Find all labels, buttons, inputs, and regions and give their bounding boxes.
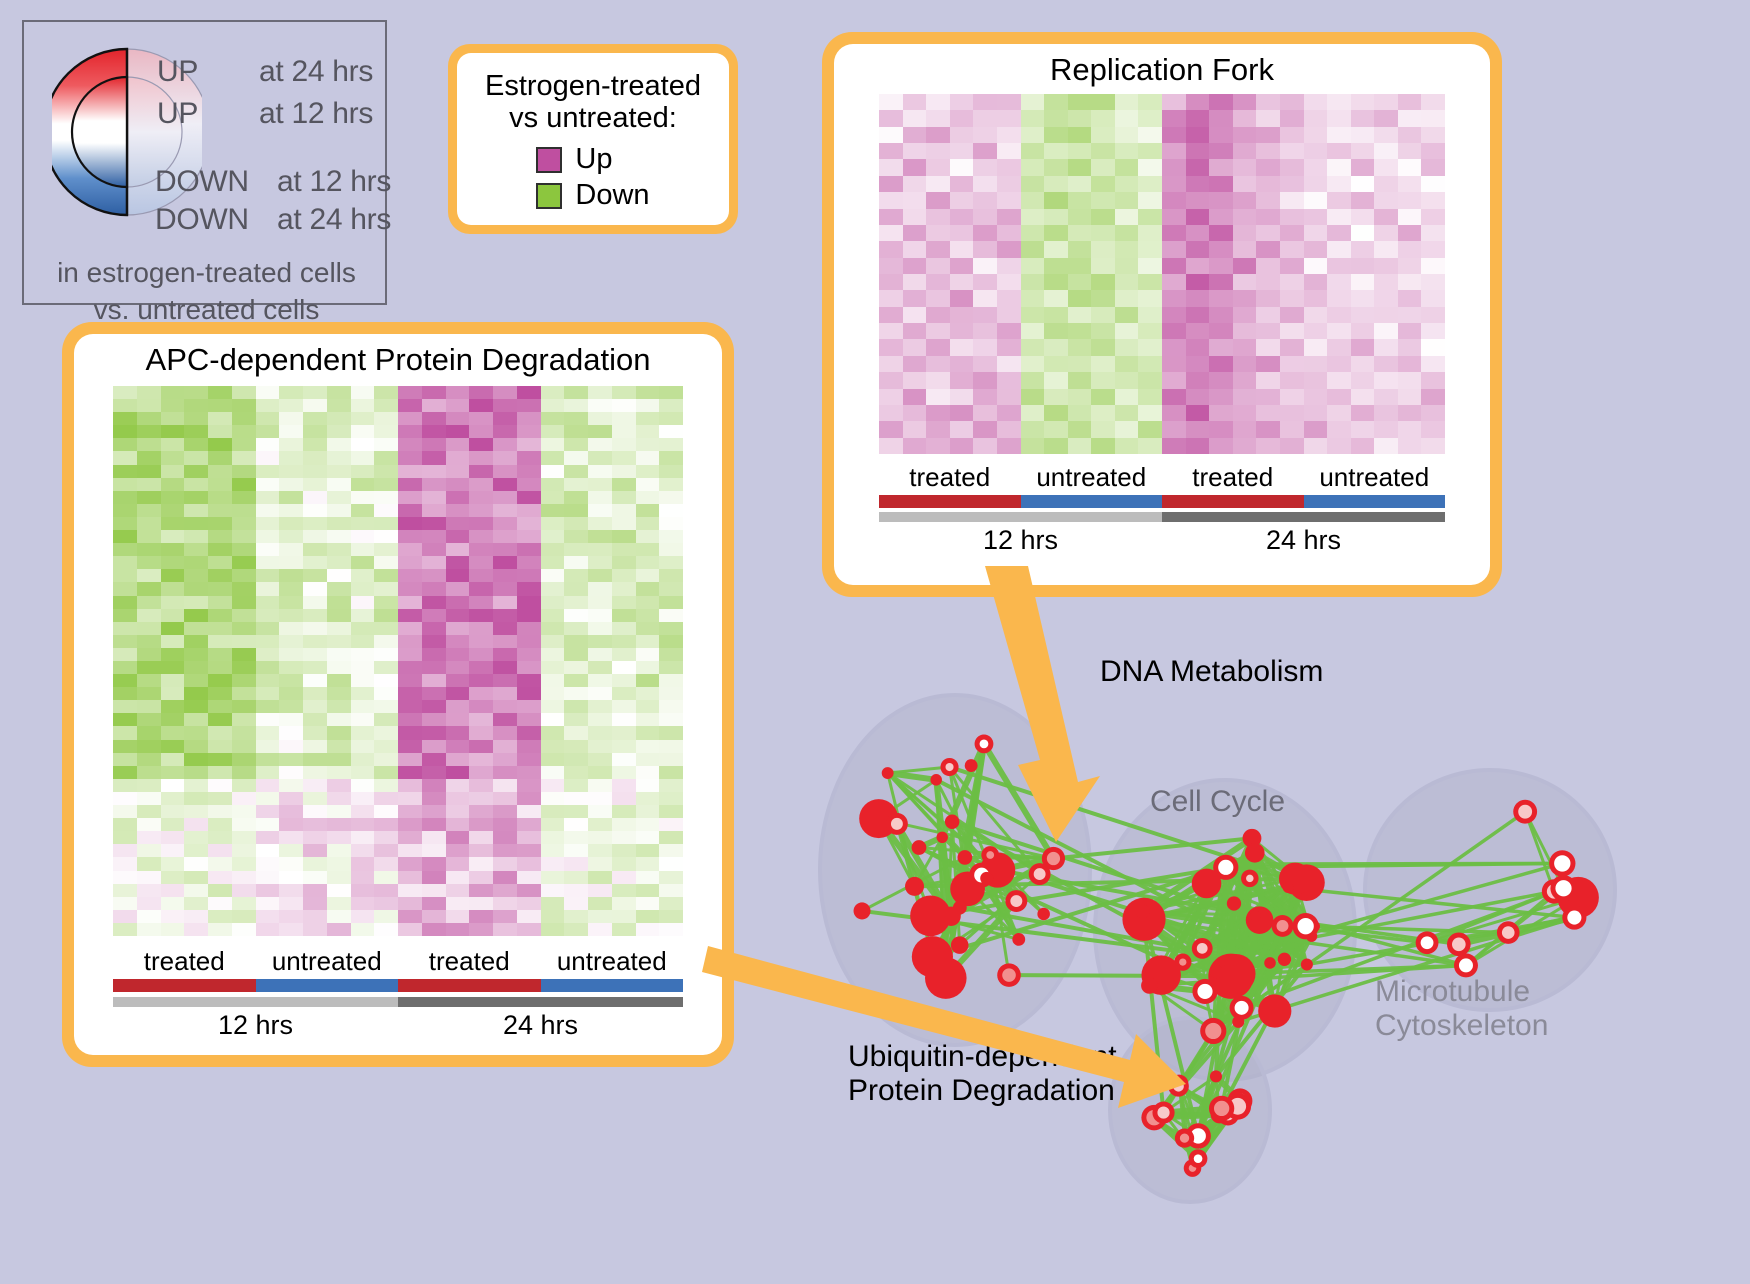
sample-label: untreated — [1021, 462, 1163, 493]
apc-time-labels: 12 hrs 24 hrs — [113, 1010, 683, 1041]
sample-label: untreated — [1304, 462, 1446, 493]
sample-label: untreated — [541, 946, 684, 977]
network-svg — [770, 600, 1750, 1279]
time-label: 12 hrs — [113, 1010, 398, 1041]
apc-panel-title: APC-dependent Protein Degradation — [74, 342, 722, 378]
apc-heatmap — [113, 386, 683, 936]
key-label-down-12: DOWN — [155, 165, 249, 199]
replication-fork-heatmap — [879, 94, 1445, 454]
down-color-swatch — [536, 183, 562, 209]
legend-label-down: Down — [575, 179, 649, 212]
key-time-up-12: at 12 hrs — [259, 97, 373, 131]
sample-label: treated — [113, 946, 256, 977]
key-caption-line1: in estrogen-treated cells — [24, 257, 389, 289]
key-label-up-24: UP — [157, 55, 198, 89]
legend-title-line2: vs untreated: — [485, 102, 701, 134]
cluster-label-dna-metabolism: DNA Metabolism — [1100, 655, 1323, 689]
replication-fork-title: Replication Fork — [834, 52, 1490, 88]
replication-fork-sample-labels: treated untreated treated untreated — [879, 462, 1445, 493]
sample-label: untreated — [256, 946, 399, 977]
time-label: 24 hrs — [1162, 525, 1445, 556]
pathway-network-graph: DNA Metabolism Cell Cycle Microtubule Cy… — [770, 600, 1750, 1279]
key-time-down-24: at 24 hrs — [277, 203, 391, 237]
replication-fork-time-bar — [879, 512, 1445, 522]
color-key-panel: UP at 24 hrs UP at 12 hrs DOWN at 12 hrs… — [22, 20, 387, 305]
key-time-down-12: at 12 hrs — [277, 165, 391, 199]
key-time-up-24: at 24 hrs — [259, 55, 373, 89]
key-label-up-12: UP — [157, 97, 198, 131]
apc-sample-labels: treated untreated treated untreated — [113, 946, 683, 977]
time-label: 12 hrs — [879, 525, 1162, 556]
sample-label: treated — [398, 946, 541, 977]
legend-label-up: Up — [575, 143, 612, 176]
cluster-label-cell-cycle: Cell Cycle — [1150, 785, 1285, 819]
apc-degradation-panel: APC-dependent Protein Degradation treate… — [62, 322, 734, 1067]
apc-time-bar — [113, 997, 683, 1007]
time-label: 24 hrs — [398, 1010, 683, 1041]
legend-item-down: Down — [536, 179, 649, 212]
legend-item-up: Up — [536, 143, 649, 176]
cluster-label-microtubule-cytoskeleton: Microtubule Cytoskeleton — [1375, 975, 1548, 1042]
replication-fork-treatment-bar — [879, 495, 1445, 508]
legend-title-line1: Estrogen-treated — [485, 70, 701, 102]
sample-label: treated — [1162, 462, 1304, 493]
up-color-swatch — [536, 147, 562, 173]
sample-label: treated — [879, 462, 1021, 493]
replication-fork-time-labels: 12 hrs 24 hrs — [879, 525, 1445, 556]
apc-treatment-bar — [113, 979, 683, 992]
key-label-down-24: DOWN — [155, 203, 249, 237]
cluster-label-ubiquitin-degradation: Ubiquitin-dependent Protein Degradation — [848, 1040, 1117, 1107]
updown-legend-card: Estrogen-treated vs untreated: Up Down — [448, 44, 738, 234]
replication-fork-panel: Replication Fork treated untreated treat… — [822, 32, 1502, 597]
